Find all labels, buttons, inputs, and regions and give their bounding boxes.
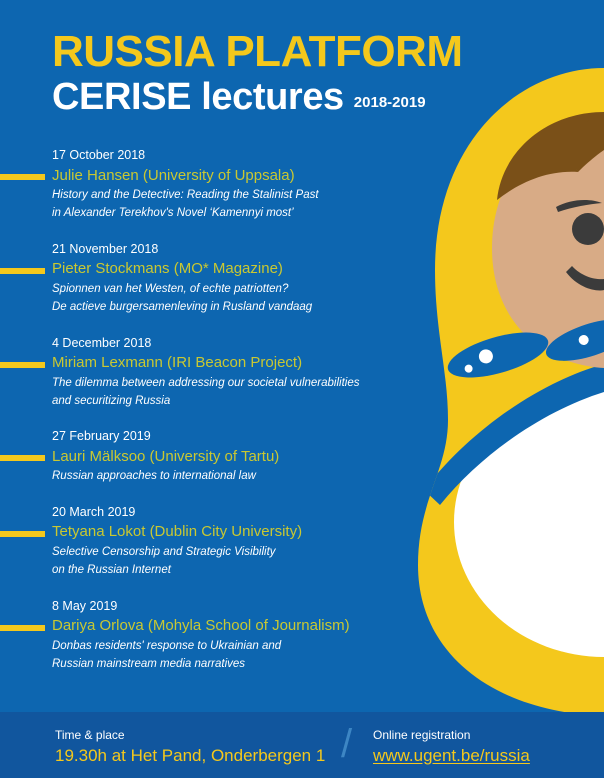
lecture-date: 20 March 2019 [52,505,420,521]
lecture-description-line1: Spionnen van het Westen, of echte patrio… [52,281,420,297]
registration-url-link[interactable]: www.ugent.be/russia [373,745,530,766]
lecture-date: 4 December 2018 [52,336,420,352]
lecture-date: 8 May 2019 [52,599,420,615]
bullet-dash-icon [0,625,45,631]
lecture-list: 17 October 2018 Julie Hansen (University… [0,148,420,692]
bullet-dash-icon [0,268,45,274]
doll-scarf-body [400,50,604,750]
footer-divider-slash: / [341,724,352,764]
poster-footer: Time & place 19.30h at Het Pand, Onderbe… [0,712,604,778]
doll-eyebrow [556,200,602,212]
footer-registration-label: Online registration [373,728,530,744]
doll-scarf-flowers [443,311,604,387]
lecture-date: 17 October 2018 [52,148,420,164]
doll-face [492,120,604,368]
doll-eye [572,213,604,245]
lecture-item: 4 December 2018 Miriam Lexmann (IRI Beac… [0,336,420,410]
lecture-description-line1: Selective Censorship and Strategic Visib… [52,544,420,560]
bullet-dash-icon [0,531,45,537]
academic-year-label: 2018-2019 [354,94,426,111]
lecture-description-line2: on the Russian Internet [52,562,420,578]
lecture-description-line2: and securitizing Russia [52,393,420,409]
footer-registration-block: Online registration www.ugent.be/russia [373,728,530,766]
bullet-dash-icon [0,362,45,368]
bullet-dash-icon [0,455,45,461]
lecture-speaker: Tetyana Lokot (Dublin City University) [52,522,420,542]
subtitle-row: CERISE lectures 2018-2019 [52,78,462,116]
footer-time-place-block: Time & place 19.30h at Het Pand, Onderbe… [55,728,325,766]
lecture-speaker: Julie Hansen (University of Uppsala) [52,166,420,186]
lecture-description-line1: Russian approaches to international law [52,468,420,484]
lecture-item: 8 May 2019 Dariya Orlova (Mohyla School … [0,599,420,673]
lecture-item: 20 March 2019 Tetyana Lokot (Dublin City… [0,505,420,579]
lecture-date: 27 February 2019 [52,429,420,445]
lecture-description-line2: Russian mainstream media narratives [52,656,420,672]
lecture-speaker: Pieter Stockmans (MO* Magazine) [52,259,420,279]
lecture-item: 17 October 2018 Julie Hansen (University… [0,148,420,222]
lecture-description-line1: History and the Detective: Reading the S… [52,187,420,203]
lecture-speaker: Lauri Mälksoo (University of Tartu) [52,447,420,467]
page-subtitle: CERISE lectures [52,78,344,116]
doll-apron [454,387,604,657]
lecture-description-line2: De actieve burgersamenleving in Rusland … [52,299,420,315]
doll-hair [497,112,604,200]
page-title: RUSSIA PLATFORM [52,30,462,74]
lecture-description-line1: Donbas residents' response to Ukrainian … [52,638,420,654]
footer-time-label: Time & place [55,728,325,744]
bullet-dash-icon [0,174,45,180]
lecture-date: 21 November 2018 [52,242,420,258]
lecture-speaker: Dariya Orlova (Mohyla School of Journali… [52,616,420,636]
footer-time-value: 19.30h at Het Pand, Onderbergen 1 [55,745,325,766]
poster-header: RUSSIA PLATFORM CERISE lectures 2018-201… [52,30,462,116]
lecture-description-line1: The dilemma between addressing our socie… [52,375,420,391]
doll-mouth [566,266,604,290]
lecture-item: 27 February 2019 Lauri Mälksoo (Universi… [0,429,420,484]
doll-scarf-fold [424,364,604,505]
lecture-description-line2: in Alexander Terekhov's Novel ‘Kamennyi … [52,205,420,221]
lecture-speaker: Miriam Lexmann (IRI Beacon Project) [52,353,420,373]
poster-root: RUSSIA PLATFORM CERISE lectures 2018-201… [0,0,604,778]
lecture-item: 21 November 2018 Pieter Stockmans (MO* M… [0,242,420,316]
